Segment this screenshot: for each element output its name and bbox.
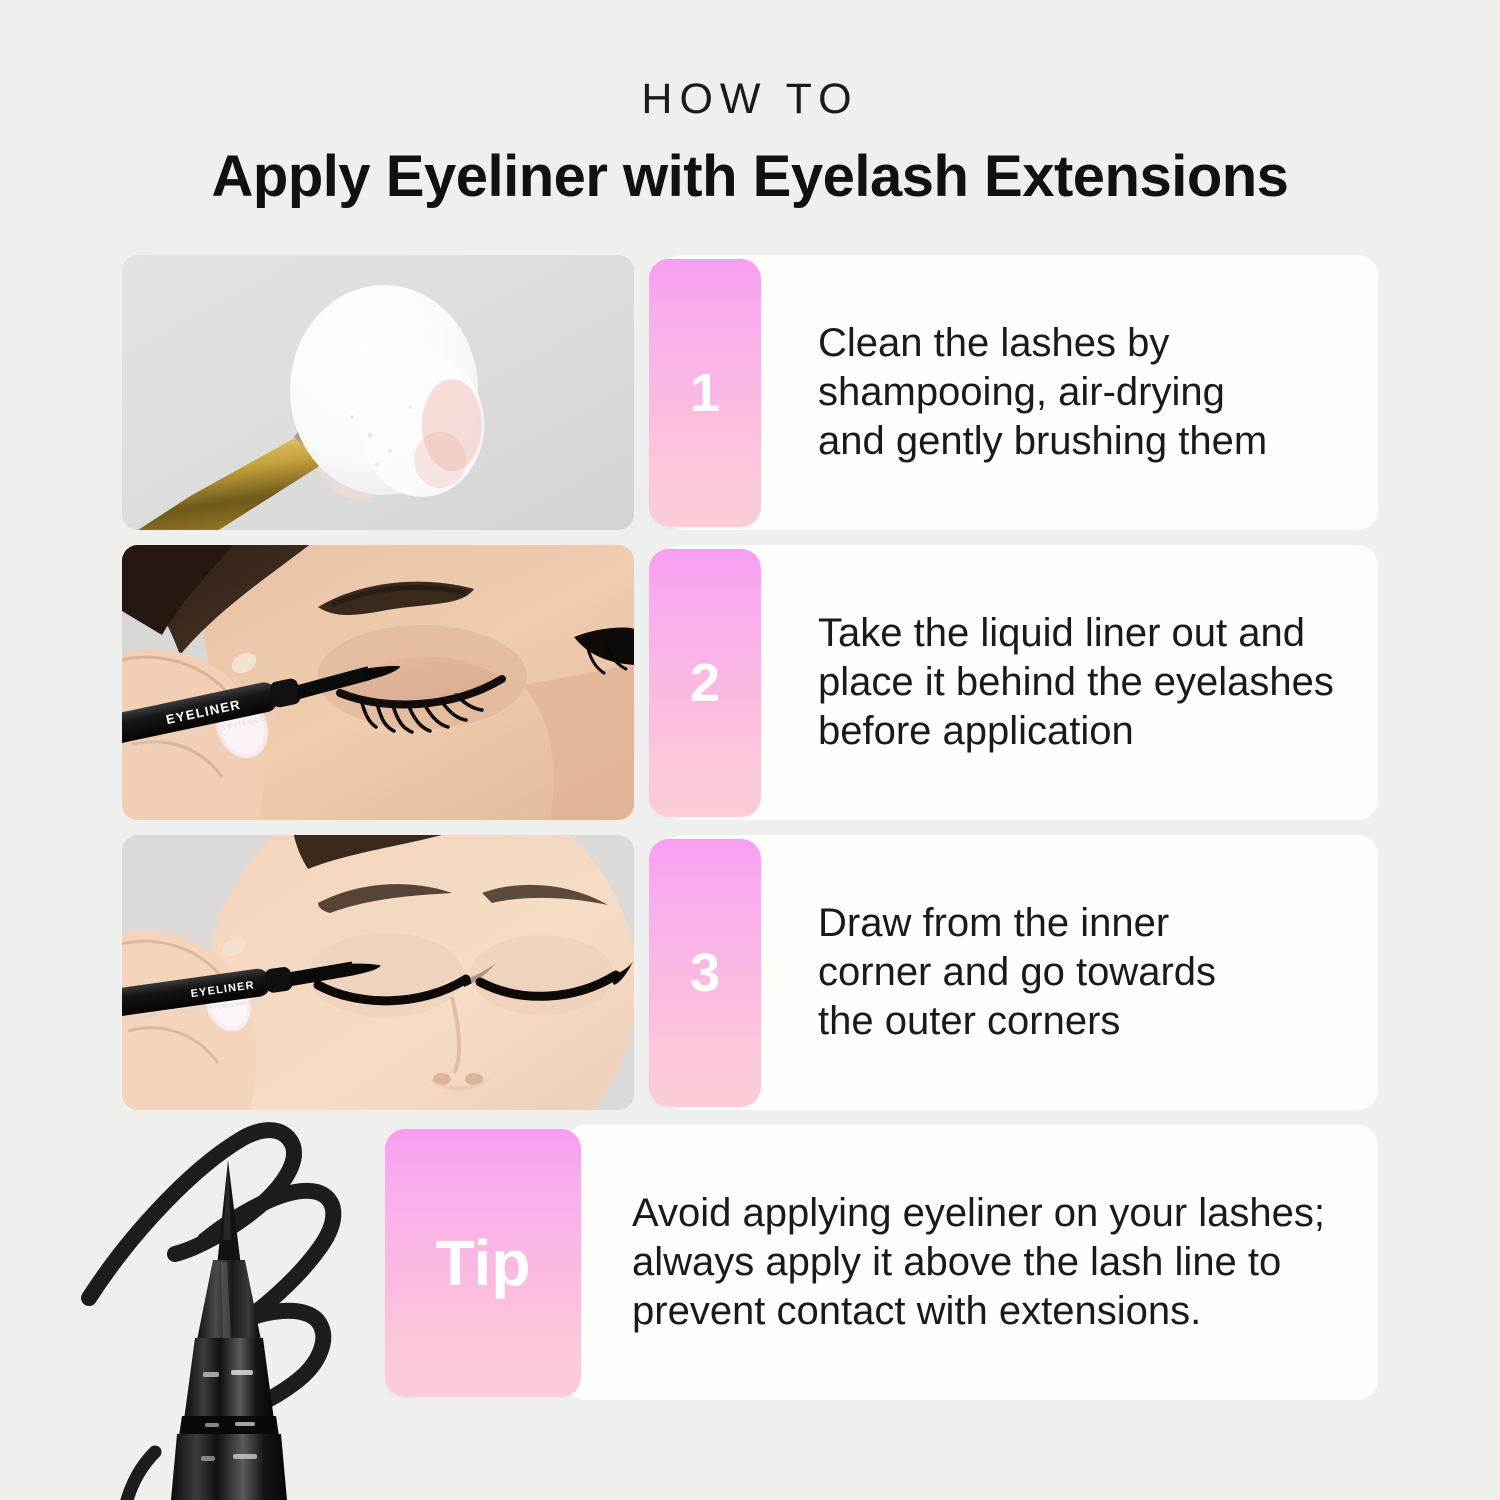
step-text-line: Clean the lashes by — [818, 319, 1363, 368]
tip-text: Avoid applying eyeliner on your lashes; … — [632, 1125, 1347, 1400]
tip-row: Tip Avoid applying eyeliner on your lash… — [0, 1125, 1500, 1400]
step-text-line: Take the liquid liner out and — [818, 609, 1378, 658]
step-number-badge-3: 3 — [649, 839, 761, 1107]
tip-badge: Tip — [385, 1129, 581, 1397]
tip-text-line: Avoid applying eyeliner on your lashes; — [632, 1189, 1347, 1238]
step-text-line: and gently brushing them — [818, 417, 1363, 466]
kicker-text: HOW TO — [0, 78, 1500, 121]
tip-text-line: always apply it above the lash line to — [632, 1238, 1347, 1287]
step-text-3: Draw from the inner corner and go toward… — [818, 835, 1363, 1110]
step-text-line: Draw from the inner — [818, 899, 1363, 948]
step-text-line: shampooing, air-drying — [818, 368, 1363, 417]
step-text-line: place it behind the eyelashes — [818, 658, 1378, 707]
tip-text-line: prevent contact with extensions. — [632, 1287, 1347, 1336]
step-text-line: the outer corners — [818, 997, 1363, 1046]
step-number-badge-2: 2 — [649, 549, 761, 817]
step-text-line: corner and go towards — [818, 948, 1363, 997]
step-text-line: before application — [818, 707, 1378, 756]
step-number-badge-1: 1 — [649, 259, 761, 527]
step-image-2: EYELINER FOR EYELASH EXTENSIONS | POUR L… — [122, 545, 634, 820]
step-row-2: EYELINER FOR EYELASH EXTENSIONS | POUR L… — [0, 545, 1500, 820]
step-row-3: EYELINER FOR EYELASH EXTENSIONS | POUR L… — [0, 835, 1500, 1110]
infographic-page: HOW TO Apply Eyeliner with Eyelash Exten… — [0, 0, 1500, 1500]
step-text-1: Clean the lashes by shampooing, air-dryi… — [818, 255, 1363, 530]
step-text-2: Take the liquid liner out and place it b… — [818, 545, 1378, 820]
step-row-1: 1 Clean the lashes by shampooing, air-dr… — [0, 255, 1500, 530]
steps-list: 1 Clean the lashes by shampooing, air-dr… — [0, 255, 1500, 1415]
page-title: Apply Eyeliner with Eyelash Extensions — [0, 147, 1500, 208]
header: HOW TO Apply Eyeliner with Eyelash Exten… — [0, 0, 1500, 208]
step-image-3: EYELINER FOR EYELASH EXTENSIONS | POUR L… — [122, 835, 634, 1110]
step-image-1 — [122, 255, 634, 530]
